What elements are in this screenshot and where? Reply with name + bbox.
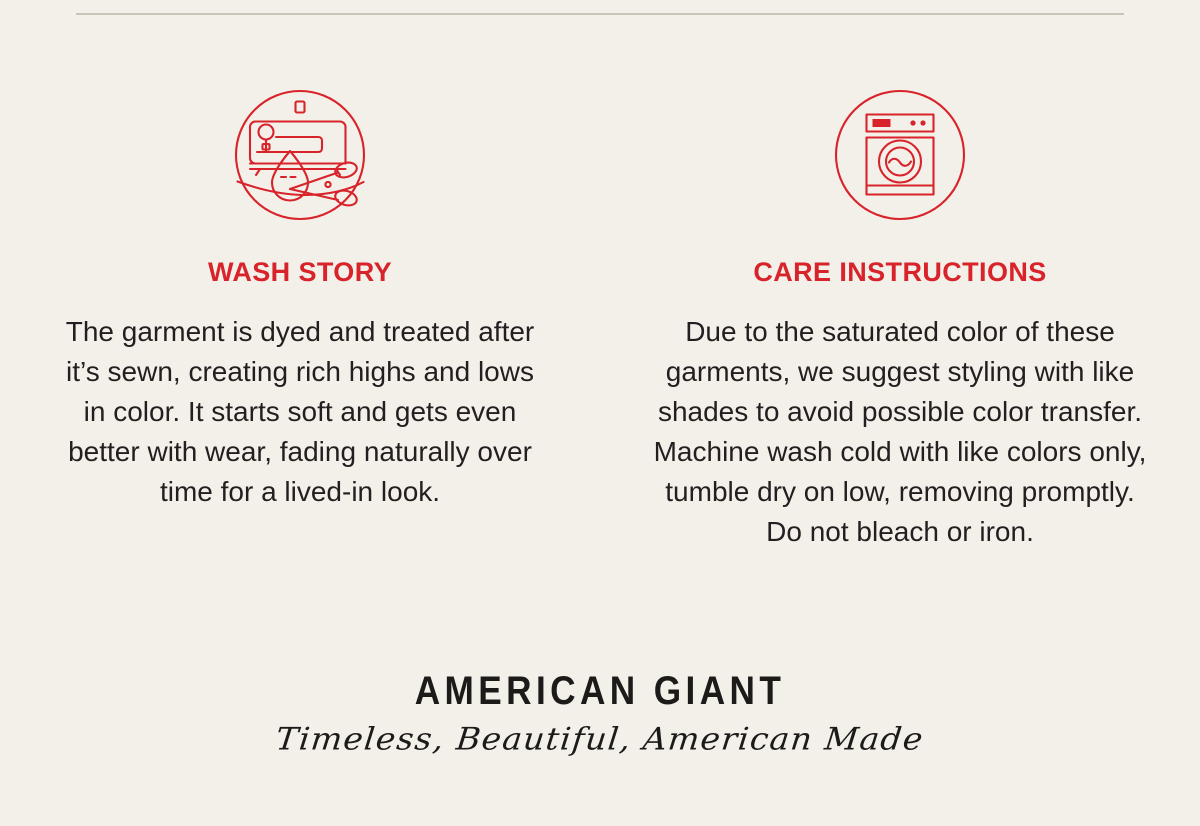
brand-wordmark: AMERICAN GIANT bbox=[72, 668, 1128, 714]
column-heading-care-instructions: CARE INSTRUCTIONS bbox=[753, 258, 1046, 288]
top-divider-rule bbox=[76, 13, 1124, 15]
brand-footer: AMERICAN GIANT Timeless, Beautiful, Amer… bbox=[0, 668, 1200, 760]
care-info-panel: WASH STORY The garment is dyed and treat… bbox=[0, 0, 1200, 826]
washing-machine-icon bbox=[833, 88, 967, 222]
column-body-wash-story: The garment is dyed and treated after it… bbox=[62, 312, 538, 512]
column-care-instructions: CARE INSTRUCTIONS Due to the saturated c… bbox=[600, 88, 1200, 552]
sewing-machine-icon bbox=[233, 88, 367, 222]
brand-tagline: Timeless, Beautiful, American Made bbox=[274, 719, 926, 758]
info-columns: WASH STORY The garment is dyed and treat… bbox=[0, 88, 1200, 552]
column-wash-story: WASH STORY The garment is dyed and treat… bbox=[0, 88, 600, 512]
column-body-care-instructions: Due to the saturated color of these garm… bbox=[650, 312, 1150, 552]
brand-tagline-wrap: Timeless, Beautiful, American Made bbox=[0, 718, 1200, 760]
column-heading-wash-story: WASH STORY bbox=[208, 258, 392, 288]
